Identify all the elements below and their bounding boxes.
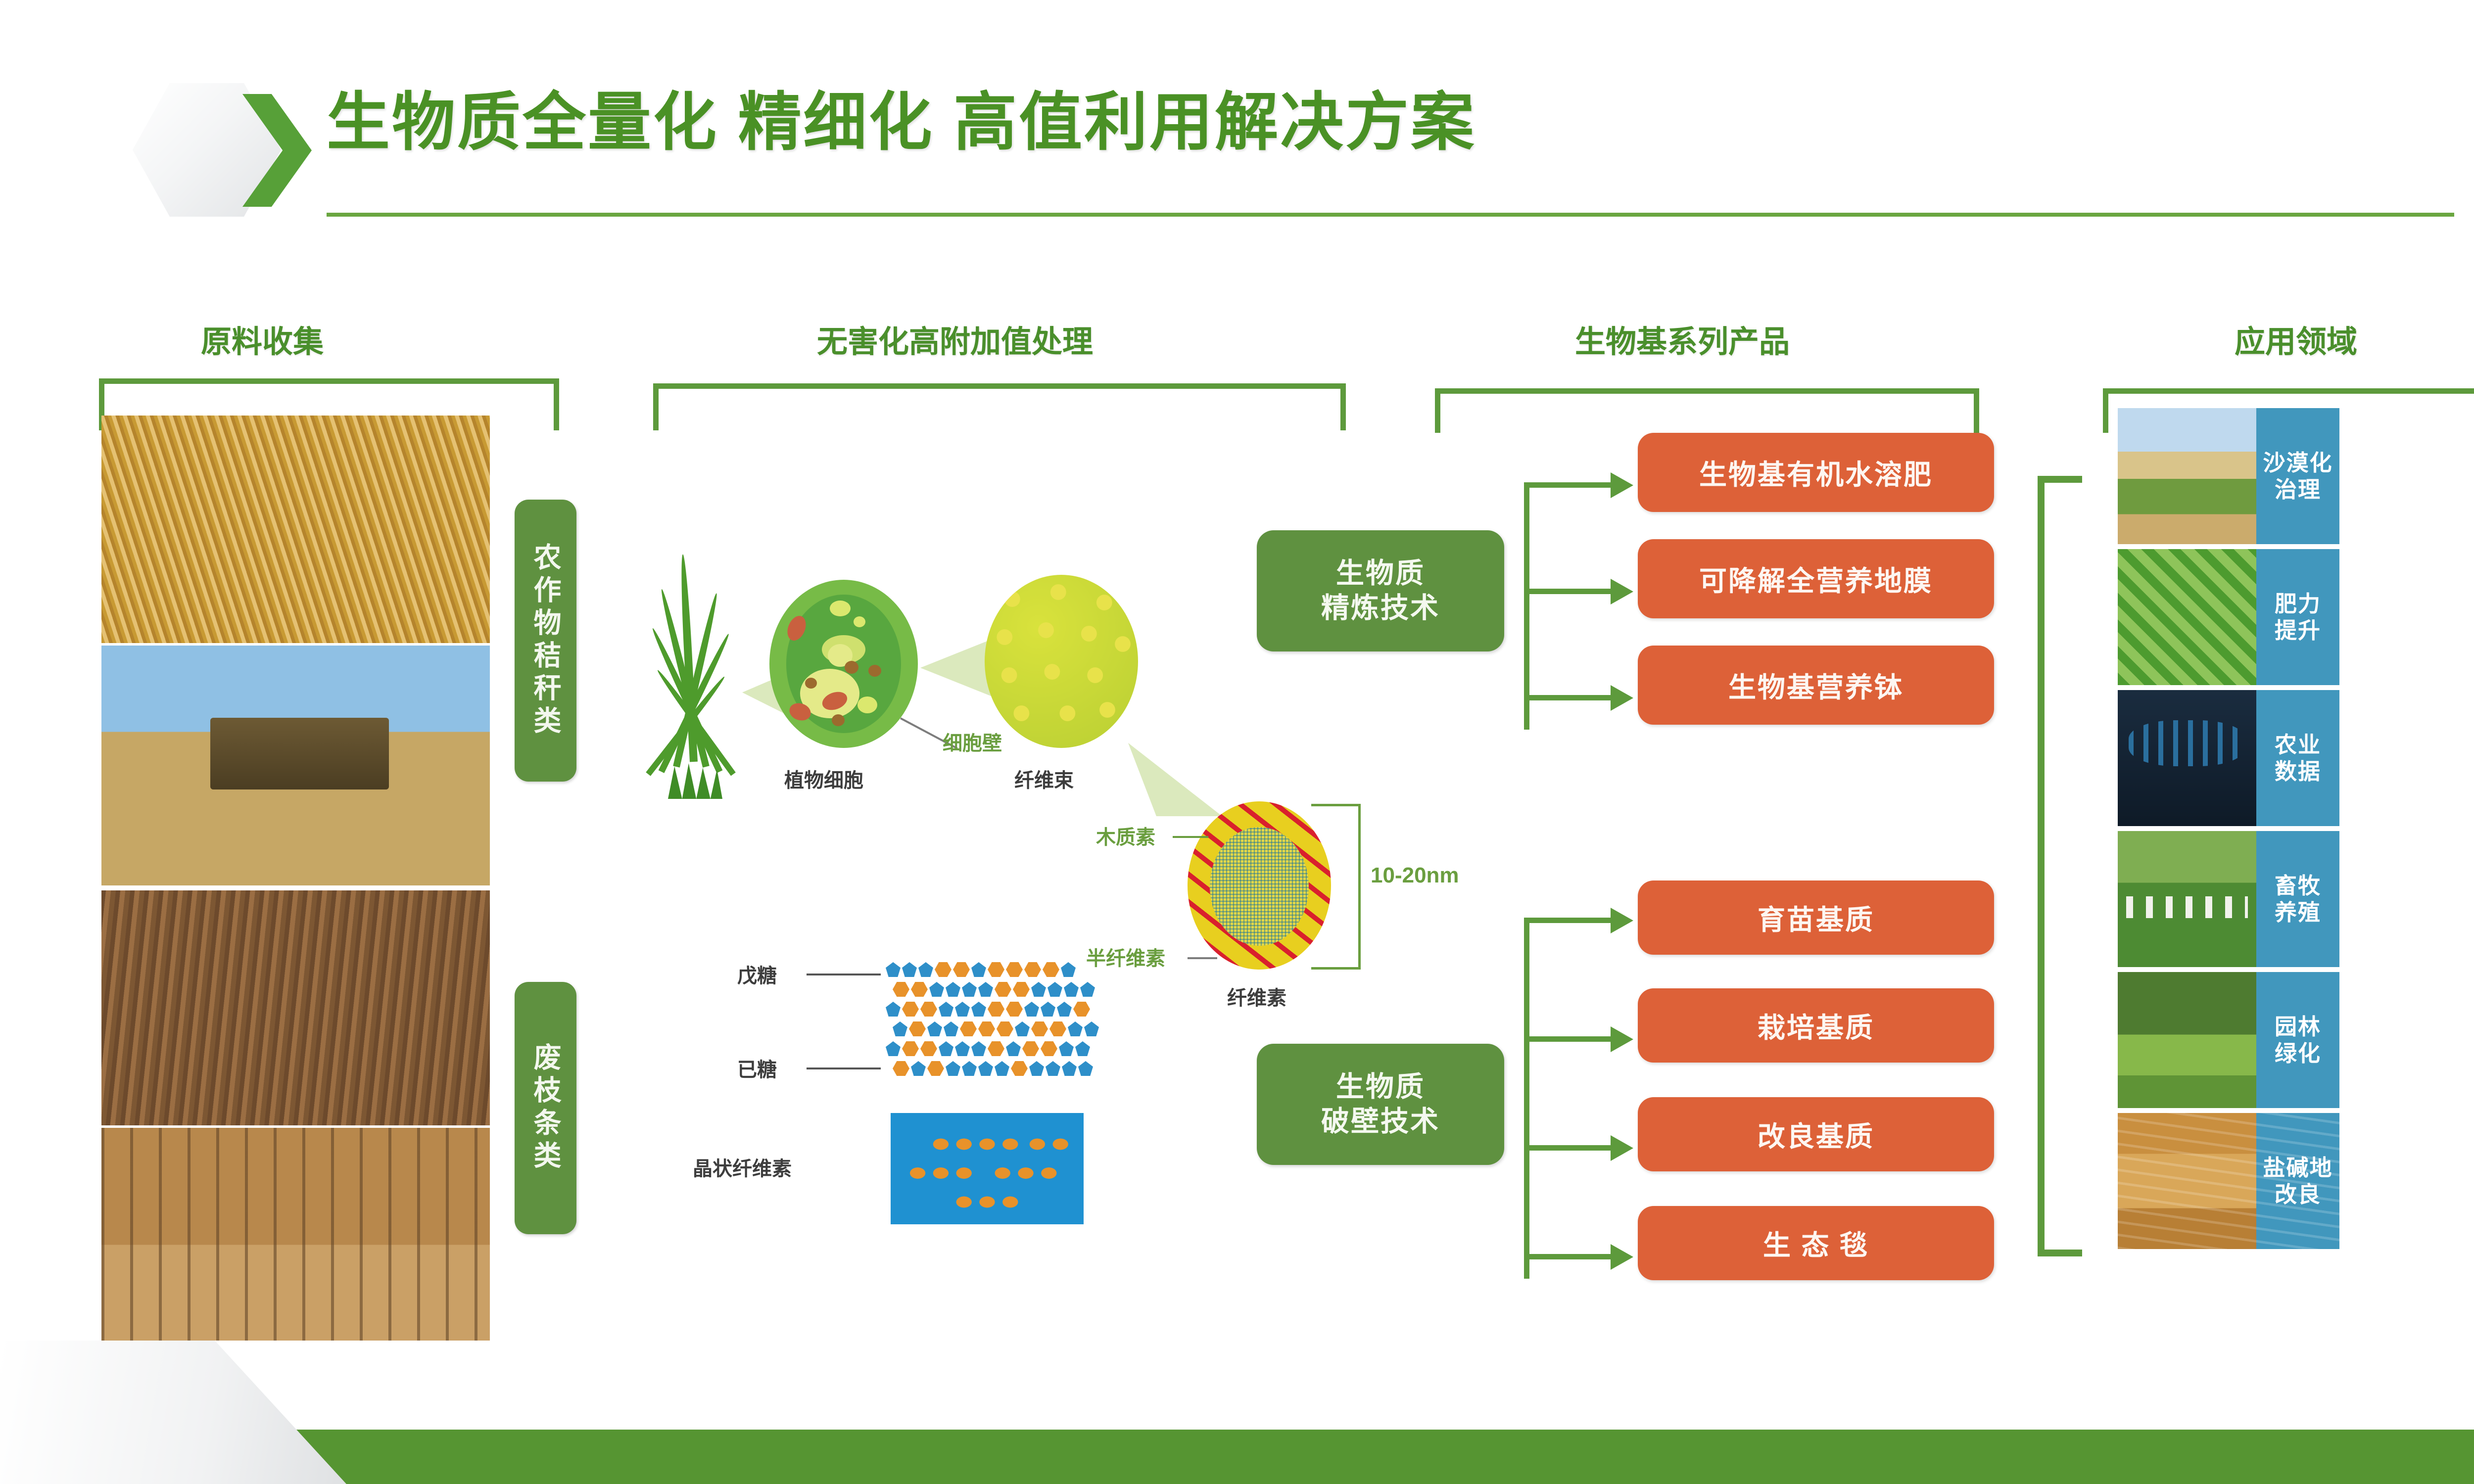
label-plant-cell: 植物细胞 xyxy=(784,764,863,793)
arrow-head-1b xyxy=(1611,579,1633,604)
application-livestock-line2: 养殖 xyxy=(2275,899,2321,926)
hemicellulose-leader-line xyxy=(1188,957,1217,959)
zoom-cone-2 xyxy=(920,638,995,697)
application-livestock-line1: 畜牧 xyxy=(2275,873,2321,899)
pentose-unit-icon xyxy=(1062,1061,1077,1076)
application-tag-garden: 园林 绿化 xyxy=(2256,972,2339,1108)
hexose-unit-icon xyxy=(995,982,1011,997)
sugar-chain-row xyxy=(893,982,1095,997)
fiber-bundle-illustration xyxy=(985,575,1138,748)
hexose-unit-icon xyxy=(1043,962,1059,977)
sugar-chain-row xyxy=(893,1021,1099,1036)
application-desert-line1: 沙漠化 xyxy=(2263,450,2332,476)
connector-branch-2a xyxy=(1524,918,1613,923)
application-row-garden[interactable]: 园林 绿化 xyxy=(2118,972,2339,1108)
hexose-unit-icon xyxy=(988,1002,1004,1017)
application-garden-line2: 绿化 xyxy=(2275,1040,2321,1067)
application-row-fertility[interactable]: 肥力 提升 xyxy=(2118,549,2339,685)
arrow-head-2b xyxy=(1611,1026,1633,1052)
pentose-unit-icon xyxy=(886,1041,901,1056)
dimension-tick-top xyxy=(1311,804,1361,806)
hexose-unit-icon xyxy=(893,1061,909,1076)
arrow-head-2d xyxy=(1611,1244,1633,1270)
section-title-processing: 无害化高附加值处理 xyxy=(732,317,1178,361)
photo-corn-stalk-field xyxy=(101,416,490,643)
application-row-data[interactable]: 农业 数据 xyxy=(2118,690,2339,826)
hexose-unit-icon xyxy=(1031,1021,1048,1036)
photo-agriculture-data-screen xyxy=(2118,690,2256,826)
hexose-unit-icon xyxy=(997,1021,1013,1036)
application-fertility-line1: 肥力 xyxy=(2275,591,2321,617)
hexose-unit-icon xyxy=(909,1021,926,1036)
pentose-unit-icon xyxy=(929,982,944,997)
pentose-unit-icon xyxy=(886,1002,901,1017)
pentose-unit-icon xyxy=(1059,1041,1074,1056)
pentose-leader-line xyxy=(807,974,881,975)
photo-straw-bale-field xyxy=(101,646,490,885)
hexose-unit-icon xyxy=(1073,1002,1090,1017)
photo-landscape-greening xyxy=(2118,972,2256,1108)
application-tag-fertility: 肥力 提升 xyxy=(2256,549,2339,685)
plant-illustration xyxy=(638,544,752,801)
pentose-unit-icon xyxy=(1080,982,1095,997)
category-label-waste-branches: 废枝条类 xyxy=(515,982,576,1234)
pentose-unit-icon xyxy=(971,1041,986,1056)
application-data-line2: 数据 xyxy=(2275,758,2321,785)
pentose-unit-icon xyxy=(1015,1021,1030,1036)
connector-spine-2 xyxy=(1524,918,1529,1279)
application-garden-line1: 园林 xyxy=(2275,1014,2321,1040)
pentose-unit-icon xyxy=(939,1002,953,1017)
product-box-ecological-blanket[interactable]: 生 态 毯 xyxy=(1638,1206,1994,1280)
section-bracket-bio-products xyxy=(1435,388,1979,433)
hexose-unit-icon xyxy=(1049,1021,1066,1036)
tech-refining-line2: 精炼技术 xyxy=(1321,591,1440,626)
pentose-unit-icon xyxy=(1078,1061,1093,1076)
label-fiber-bundle: 纤维束 xyxy=(1014,764,1074,793)
page-title: 生物质全量化 精细化 高值利用解决方案 xyxy=(327,88,1476,158)
pentose-unit-icon xyxy=(886,962,901,977)
hexose-unit-icon xyxy=(978,1021,995,1036)
tech-box-wall-breaking[interactable]: 生物质 破壁技术 xyxy=(1257,1044,1504,1165)
product-box-nutrient-pot[interactable]: 生物基营养钵 xyxy=(1638,646,1994,725)
lignin-leader-line xyxy=(1173,836,1208,838)
hexose-unit-icon xyxy=(1024,962,1041,977)
sugar-chain-row xyxy=(886,962,1076,977)
hexose-leader-line xyxy=(807,1067,881,1069)
sugar-chain-row xyxy=(886,1041,1090,1056)
photo-desert-restoration xyxy=(2118,408,2256,544)
hexose-unit-icon xyxy=(911,982,928,997)
hexose-unit-icon xyxy=(1006,962,1023,977)
pentose-unit-icon xyxy=(962,982,977,997)
connector-branch-1c xyxy=(1524,695,1613,700)
tech-refining-line1: 生物质 xyxy=(1336,556,1425,591)
application-bracket-top xyxy=(2038,476,2082,483)
dimension-line-vertical xyxy=(1358,804,1361,970)
category-label-crop-straw: 农作物秸秆类 xyxy=(515,500,576,782)
connector-branch-2b xyxy=(1524,1036,1613,1042)
pentose-unit-icon xyxy=(944,1021,958,1036)
photo-pruned-branches xyxy=(101,890,490,1125)
hexose-unit-icon xyxy=(920,1002,937,1017)
footer-wedge xyxy=(0,1341,346,1484)
pentose-unit-icon xyxy=(1047,982,1062,997)
section-title-raw-material: 原料收集 xyxy=(163,317,361,361)
crystalline-cellulose-diagram xyxy=(891,1113,1084,1224)
section-title-bio-products: 生物基系列产品 xyxy=(1460,317,1905,361)
label-nano-dimension: 10-20nm xyxy=(1371,863,1459,888)
hexose-unit-icon xyxy=(988,962,1004,977)
hexose-unit-icon xyxy=(960,1021,977,1036)
label-hexose: 已糖 xyxy=(737,1054,777,1082)
cellulose-core xyxy=(1210,827,1309,946)
product-box-seedling-substrate[interactable]: 育苗基质 xyxy=(1638,881,1994,955)
pentose-unit-icon xyxy=(1024,1002,1039,1017)
application-fertility-line2: 提升 xyxy=(2275,617,2321,644)
tech-wall-line1: 生物质 xyxy=(1336,1070,1425,1105)
application-row-livestock[interactable]: 畜牧 养殖 xyxy=(2118,831,2339,967)
application-data-line1: 农业 xyxy=(2275,732,2321,758)
dimension-tick-bottom xyxy=(1311,967,1361,970)
pentose-unit-icon xyxy=(1075,1041,1090,1056)
photo-saline-alkali-land xyxy=(2118,1113,2256,1249)
product-box-improvement-substrate[interactable]: 改良基质 xyxy=(1638,1097,1994,1171)
section-bracket-processing xyxy=(653,383,1346,430)
connector-branch-2d xyxy=(1524,1254,1613,1259)
pentose-unit-icon xyxy=(1084,1021,1099,1036)
application-tag-desert: 沙漠化 治理 xyxy=(2256,408,2339,544)
hexose-unit-icon xyxy=(902,1041,919,1056)
sugar-chain-illustration xyxy=(886,962,1094,1086)
application-row-saline[interactable]: 盐碱地 改良 xyxy=(2118,1113,2339,1249)
pentose-unit-icon xyxy=(1068,1021,1083,1036)
sugar-chain-row xyxy=(886,1002,1090,1017)
pentose-unit-icon xyxy=(911,1061,926,1076)
pentose-unit-icon xyxy=(939,1041,953,1056)
label-cellulose: 纤维素 xyxy=(1227,982,1286,1011)
connector-spine-1 xyxy=(1524,482,1529,730)
pentose-unit-icon xyxy=(1057,1002,1072,1017)
tech-wall-line2: 破壁技术 xyxy=(1321,1105,1440,1139)
pentose-unit-icon xyxy=(927,1021,942,1036)
product-box-cultivation-substrate[interactable]: 栽培基质 xyxy=(1638,988,1994,1063)
hexose-unit-icon xyxy=(935,962,952,977)
arrow-head-2a xyxy=(1611,908,1633,933)
connector-branch-1a xyxy=(1524,482,1613,488)
hexose-unit-icon xyxy=(902,1002,919,1017)
hexose-unit-icon xyxy=(1022,1041,1039,1056)
hexose-unit-icon xyxy=(927,1061,944,1076)
pentose-unit-icon xyxy=(955,1041,970,1056)
pentose-unit-icon xyxy=(995,1061,1009,1076)
product-box-water-soluble-fertilizer[interactable]: 生物基有机水溶肥 xyxy=(1638,433,1994,512)
photo-cabbage-field xyxy=(2118,549,2256,685)
pentose-unit-icon xyxy=(955,1002,970,1017)
label-crystalline-cellulose: 晶状纤维素 xyxy=(693,1153,792,1181)
hexose-unit-icon xyxy=(1011,1061,1028,1076)
connector-branch-2c xyxy=(1524,1145,1613,1151)
section-title-applications: 应用领域 xyxy=(2123,317,2469,361)
application-tag-data: 农业 数据 xyxy=(2256,690,2339,826)
arrow-head-1a xyxy=(1611,472,1633,498)
hexose-unit-icon xyxy=(893,982,909,997)
application-bracket-bottom xyxy=(2038,1250,2082,1256)
pentose-unit-icon xyxy=(902,962,917,977)
arrow-head-2c xyxy=(1611,1135,1633,1161)
title-divider xyxy=(327,213,2454,217)
application-row-desert[interactable]: 沙漠化 治理 xyxy=(2118,408,2339,544)
pentose-unit-icon xyxy=(1029,1061,1044,1076)
hexose-unit-icon xyxy=(1041,1041,1057,1056)
application-tag-livestock: 畜牧 养殖 xyxy=(2256,831,2339,967)
arrow-head-1c xyxy=(1611,685,1633,711)
tech-box-refining[interactable]: 生物质 精炼技术 xyxy=(1257,530,1504,651)
photo-vineyard-pruning xyxy=(101,1128,490,1341)
zoom-cone-3 xyxy=(1128,722,1222,816)
label-hemicellulose: 半纤维素 xyxy=(1086,942,1165,971)
pentose-unit-icon xyxy=(1061,962,1076,977)
pentose-unit-icon xyxy=(971,962,986,977)
hexose-unit-icon xyxy=(1006,1002,1023,1017)
connector-branch-1b xyxy=(1524,589,1613,594)
pentose-unit-icon xyxy=(1006,1041,1021,1056)
pentose-unit-icon xyxy=(946,982,960,997)
pentose-unit-icon xyxy=(1041,1002,1055,1017)
label-lignin: 木质素 xyxy=(1096,821,1155,850)
hexose-unit-icon xyxy=(988,1041,1004,1056)
application-desert-line2: 治理 xyxy=(2275,476,2321,503)
hexose-unit-icon xyxy=(920,1041,937,1056)
pentose-unit-icon xyxy=(962,1061,977,1076)
hexose-unit-icon xyxy=(953,962,970,977)
photo-sheep-grazing xyxy=(2118,831,2256,967)
label-pentose: 戊糖 xyxy=(737,960,777,988)
footer-bar xyxy=(0,1430,2474,1484)
product-box-biodegradable-mulch-film[interactable]: 可降解全营养地膜 xyxy=(1638,539,1994,618)
hexose-unit-icon xyxy=(1013,982,1030,997)
pentose-unit-icon xyxy=(971,1002,986,1017)
pentose-unit-icon xyxy=(978,982,993,997)
application-bracket-spine xyxy=(2038,476,2045,1256)
plant-cell-illustration xyxy=(769,580,918,748)
pentose-unit-icon xyxy=(946,1061,960,1076)
sugar-chain-row xyxy=(893,1061,1093,1076)
pentose-unit-icon xyxy=(918,962,933,977)
pentose-unit-icon xyxy=(1046,1061,1060,1076)
pentose-unit-icon xyxy=(978,1061,993,1076)
pentose-unit-icon xyxy=(1031,982,1046,997)
pentose-unit-icon xyxy=(1064,982,1079,997)
pentose-unit-icon xyxy=(893,1021,907,1036)
